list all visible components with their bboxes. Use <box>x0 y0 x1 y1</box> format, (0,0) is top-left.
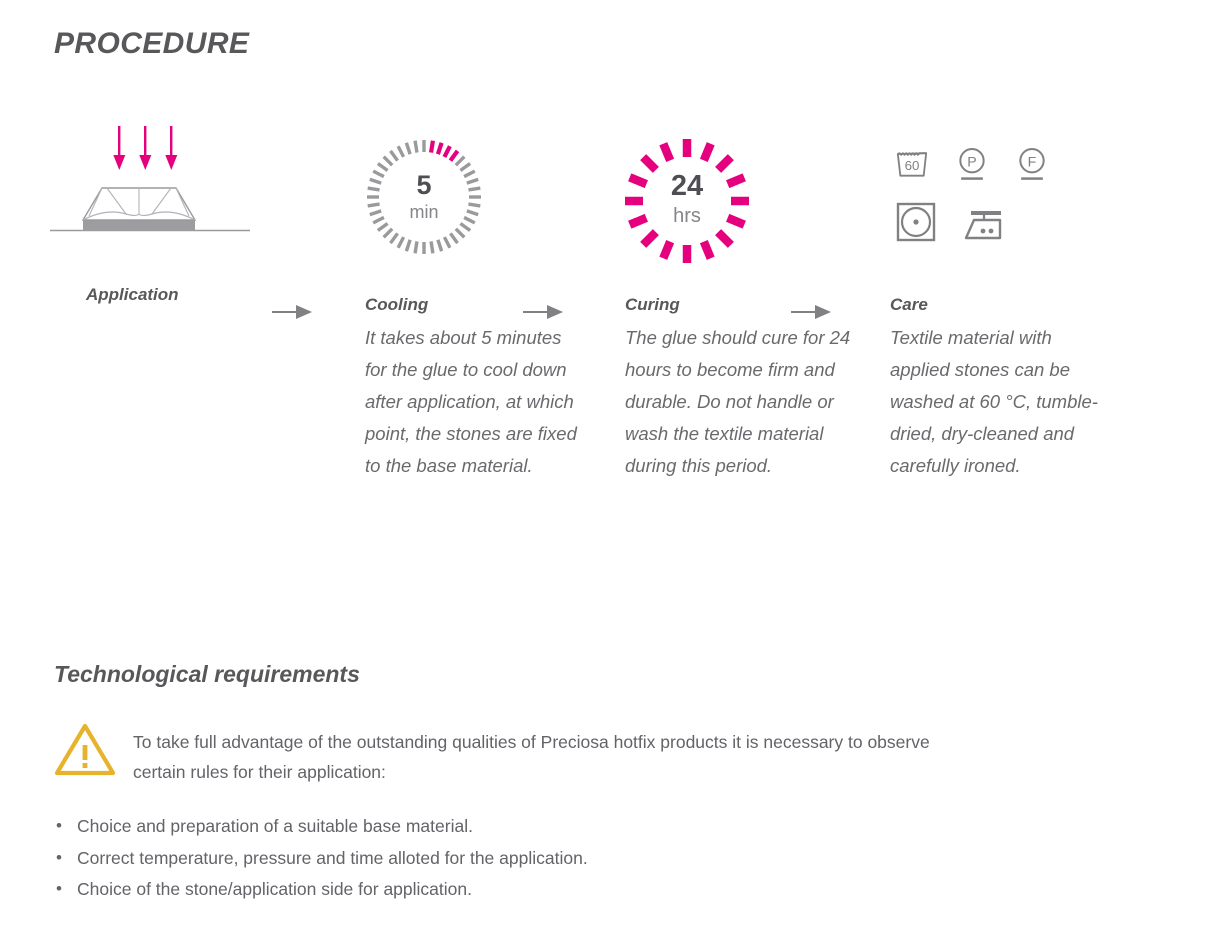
cooling-timer-icon: 5 min <box>365 138 483 256</box>
iron-two-dots-icon <box>960 198 1008 246</box>
tick-highlighted <box>663 242 670 259</box>
tick <box>398 237 403 248</box>
tick-highlighted <box>704 144 711 161</box>
care-symbols-row-2 <box>892 198 1052 246</box>
step-body-curing: The glue should cure for 24 hours to bec… <box>625 322 853 482</box>
warning-triangle-icon <box>54 722 116 777</box>
procedure-step-curing: 24 hrs Curing The glue should cure for 2… <box>625 110 853 280</box>
list-item: Choice of the stone/application side for… <box>56 874 956 906</box>
tick-highlighted <box>431 141 433 153</box>
care-symbols-group: 60 P F <box>892 140 1052 246</box>
arrow-head <box>296 305 312 319</box>
tick-highlighted <box>643 232 656 245</box>
page-title: PROCEDURE <box>54 27 249 61</box>
tick <box>384 157 392 165</box>
arrow-shaft <box>791 311 817 313</box>
step-heading-cooling: Cooling <box>365 295 428 315</box>
dryclean-f-icon: F <box>1012 140 1052 188</box>
application-diagram-icon <box>50 110 260 245</box>
list-item: Correct temperature, pressure and time a… <box>56 843 956 875</box>
dryclean-p-icon: P <box>952 140 992 188</box>
dryclean-f-label: F <box>1028 155 1037 171</box>
tick <box>456 229 464 237</box>
tick-highlighted <box>718 157 731 170</box>
arrow-shaft <box>272 311 298 313</box>
glue-layer-strip <box>83 220 195 231</box>
procedure-step-cooling: 5 min Cooling It takes about 5 minutes f… <box>365 110 577 280</box>
tick <box>415 241 417 253</box>
tick <box>406 143 410 154</box>
tick <box>384 229 392 237</box>
cooling-icon-wrapper: 5 min <box>365 110 577 280</box>
cooling-timer-value: 5 <box>365 170 483 201</box>
wash-60-icon: 60 <box>892 140 932 188</box>
dryclean-p-label: P <box>967 155 976 171</box>
tick <box>378 223 388 230</box>
technological-requirements-note: To take full advantage of the outstandin… <box>133 727 963 787</box>
step-heading-curing: Curing <box>625 295 680 315</box>
tick <box>460 223 470 230</box>
tick <box>431 241 433 253</box>
step-body-care: Textile material with applied stones can… <box>890 322 1100 482</box>
arrow-head <box>547 305 563 319</box>
flow-arrow-right-icon <box>523 305 563 319</box>
arrow-shaft <box>523 311 549 313</box>
tick <box>398 146 403 157</box>
care-symbols-row-1: 60 P F <box>892 140 1052 188</box>
pressure-arrows-icon <box>113 126 177 170</box>
flow-arrow-right-icon <box>272 305 312 319</box>
wash-temperature-label: 60 <box>905 158 920 173</box>
technological-requirements-list: Choice and preparation of a suitable bas… <box>56 811 956 906</box>
tick-highlighted <box>718 232 731 245</box>
arrow-head <box>815 305 831 319</box>
tick <box>456 157 464 165</box>
tick <box>391 233 398 243</box>
tick <box>415 141 417 153</box>
tick <box>438 240 442 251</box>
tick-highlighted <box>444 146 449 157</box>
list-item: Choice and preparation of a suitable bas… <box>56 811 956 843</box>
step-heading-care: Care <box>890 295 928 315</box>
flow-arrow-right-icon <box>791 305 831 319</box>
curing-timer-value: 24 <box>622 170 752 203</box>
application-icon-wrapper <box>54 110 254 280</box>
tick <box>391 151 398 161</box>
procedure-step-care: 60 P F <box>890 110 1100 280</box>
tick-highlighted <box>704 242 711 259</box>
care-icon-wrapper: 60 P F <box>890 110 1100 280</box>
tick <box>406 240 410 251</box>
step-body-cooling: It takes about 5 minutes for the glue to… <box>365 322 577 482</box>
procedure-step-application: Application <box>54 110 254 280</box>
step-heading-application: Application <box>86 285 179 305</box>
cooling-timer-unit: min <box>365 202 483 223</box>
tick <box>444 237 449 248</box>
tick-highlighted <box>450 151 457 161</box>
tick-highlighted <box>643 157 656 170</box>
curing-timer-icon: 24 hrs <box>622 136 752 266</box>
tick <box>450 233 457 243</box>
tumble-dry-low-icon <box>892 198 940 246</box>
curing-timer-unit: hrs <box>622 205 752 228</box>
curing-icon-wrapper: 24 hrs <box>625 110 853 280</box>
tick-highlighted <box>438 143 442 154</box>
tick-highlighted <box>663 144 670 161</box>
technological-requirements-title: Technological requirements <box>54 661 360 688</box>
